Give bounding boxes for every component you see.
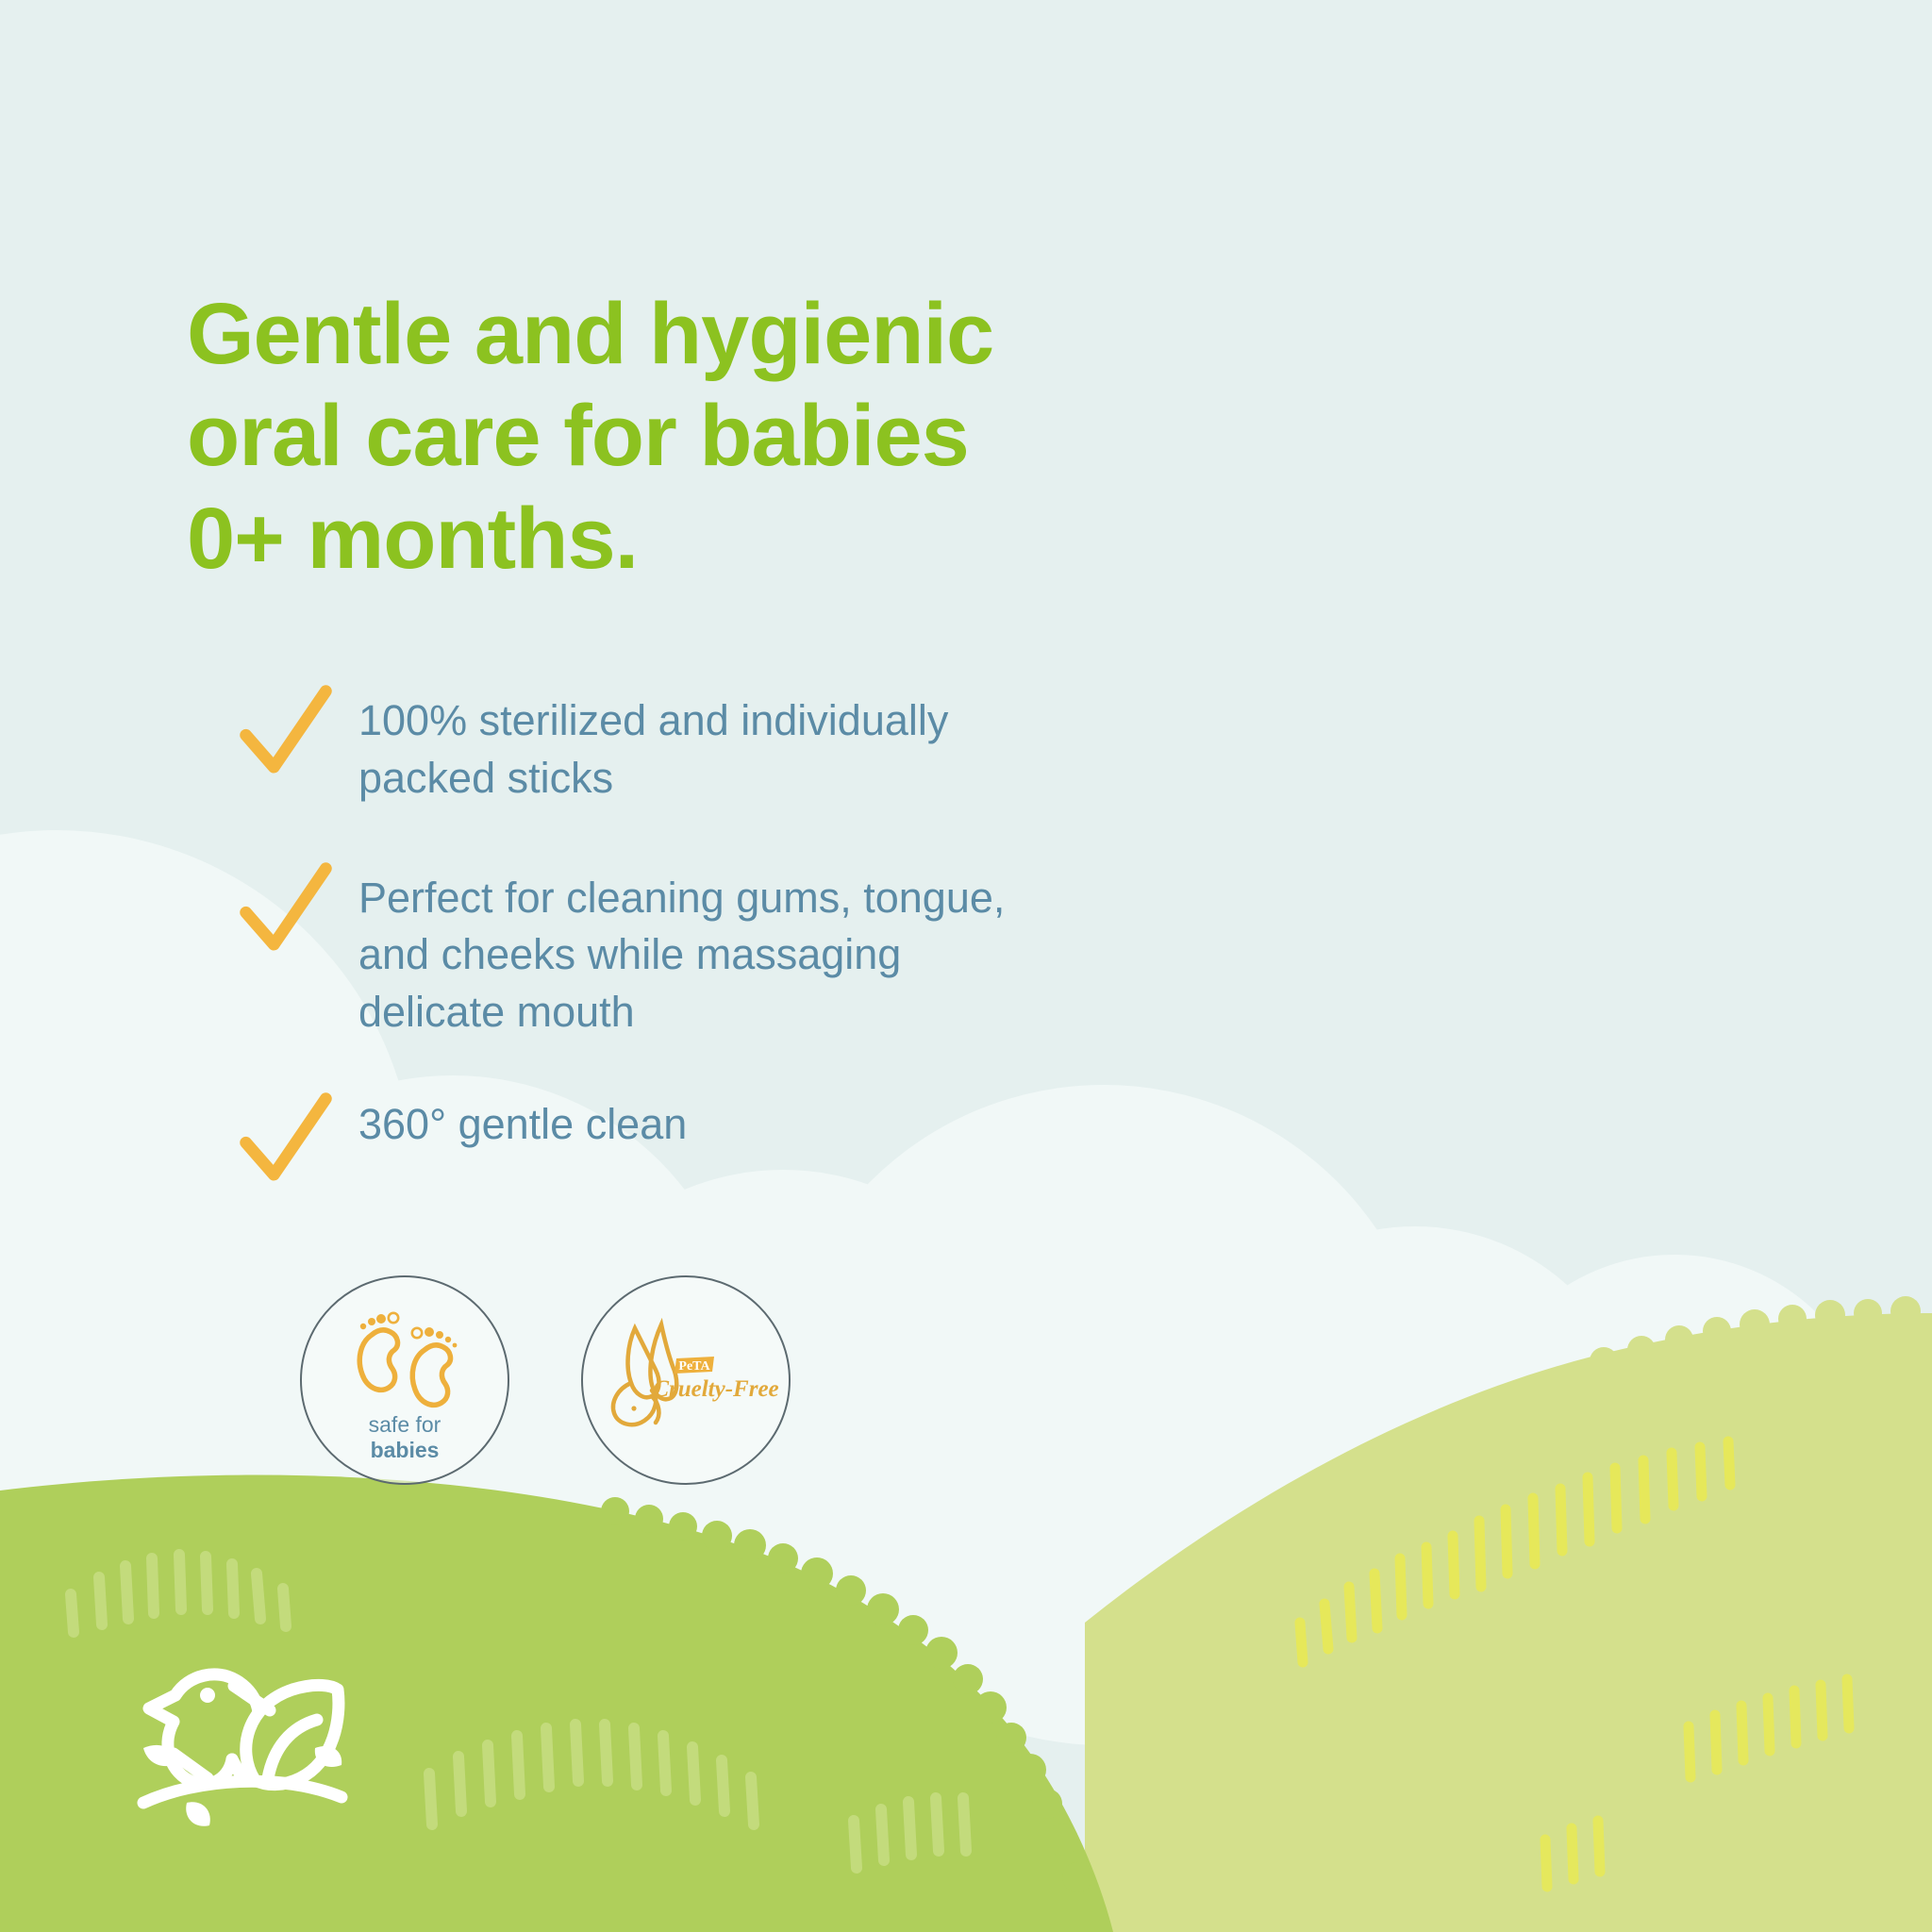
peta-wordmark: PeTA	[675, 1357, 714, 1374]
list-item: 360° gentle clean	[236, 1083, 1311, 1189]
hill-right	[1085, 1313, 1932, 1932]
check-icon	[236, 681, 336, 781]
product-feature-poster: Gentle and hygienic oral care for babies…	[0, 0, 1932, 1932]
list-item: Perfect for cleaning gums, tongue, and c…	[236, 857, 1311, 1041]
page-title: Gentle and hygienic oral care for babies…	[187, 283, 1300, 591]
list-item: 100% sterilized and individually packed …	[236, 679, 1311, 808]
peta-label-text: Cruelty-Free	[653, 1376, 778, 1402]
bird-on-branch-icon	[115, 1637, 360, 1844]
peta-bunny-icon: PeTA Cruelty-Free	[593, 1309, 778, 1451]
badge-safe-for-babies: safe for babies	[300, 1275, 509, 1485]
badge-caption-line1: safe for	[369, 1412, 441, 1437]
peta-mark-text: PeTA	[678, 1359, 710, 1374]
check-icon	[236, 858, 336, 958]
badge-caption: safe for babies	[369, 1412, 441, 1463]
feature-text: 360° gentle clean	[358, 1083, 687, 1154]
badge-peta-cruelty-free: PeTA Cruelty-Free	[581, 1275, 791, 1485]
feature-text: 100% sterilized and individually packed …	[358, 679, 948, 808]
certification-badges: safe for babies PeTA Cruelty-Fr	[300, 1275, 791, 1485]
feature-list: 100% sterilized and individually packed …	[236, 679, 1311, 1238]
check-icon	[236, 1089, 336, 1189]
baby-footprints-icon	[334, 1297, 475, 1410]
feature-text: Perfect for cleaning gums, tongue, and c…	[358, 857, 1005, 1041]
badge-caption-line2: babies	[369, 1438, 441, 1463]
